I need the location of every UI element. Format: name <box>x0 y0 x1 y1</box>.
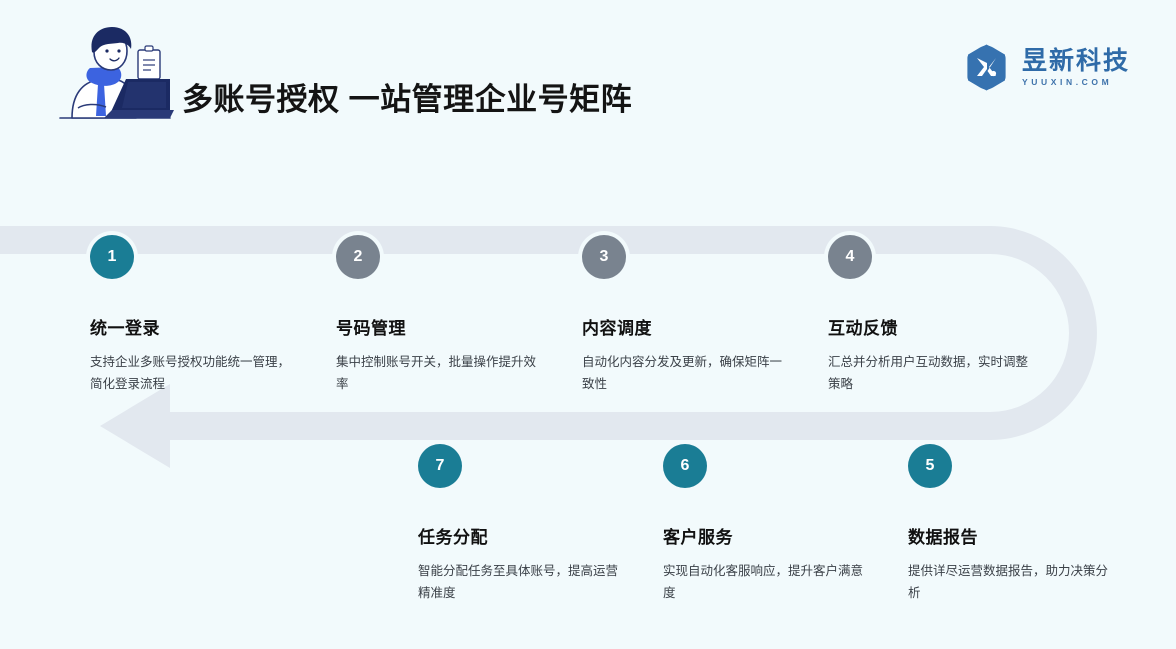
step-desc-3: 自动化内容分发及更新，确保矩阵一致性 <box>582 352 782 395</box>
person-working-on-laptop-illustration <box>52 18 178 130</box>
step-item-5[interactable]: 5 数据报告 提供详尽运营数据报告，助力决策分析 <box>908 444 1108 604</box>
step-title-5: 数据报告 <box>908 523 1108 548</box>
brand-logo: 昱新科技 YUUXIN.COM <box>962 43 1130 92</box>
step-title-4: 互动反馈 <box>828 314 1028 339</box>
page-title: 多账号授权 一站管理企业号矩阵 <box>182 74 632 119</box>
step-desc-5: 提供详尽运营数据报告，助力决策分析 <box>908 561 1108 604</box>
step-badge-2: 2 <box>336 235 380 279</box>
step-title-6: 客户服务 <box>663 523 863 548</box>
step-desc-1: 支持企业多账号授权功能统一管理，简化登录流程 <box>90 352 290 395</box>
brand-name: 昱新科技 <box>1022 48 1130 74</box>
step-item-3[interactable]: 3 内容调度 自动化内容分发及更新，确保矩阵一致性 <box>582 235 782 395</box>
step-badge-4: 4 <box>828 235 872 279</box>
step-badge-3: 3 <box>582 235 626 279</box>
step-badge-5: 5 <box>908 444 952 488</box>
step-desc-7: 智能分配任务至具体账号，提高运营精准度 <box>418 561 618 604</box>
brand-text: 昱新科技 YUUXIN.COM <box>1022 48 1130 86</box>
step-desc-6: 实现自动化客服响应，提升客户满意度 <box>663 561 863 604</box>
step-title-1: 统一登录 <box>90 314 290 339</box>
step-item-7[interactable]: 7 任务分配 智能分配任务至具体账号，提高运营精准度 <box>418 444 618 604</box>
step-badge-7: 7 <box>418 444 462 488</box>
step-title-3: 内容调度 <box>582 314 782 339</box>
brand-domain: YUUXIN.COM <box>1022 77 1130 87</box>
step-title-2: 号码管理 <box>336 314 536 339</box>
step-item-2[interactable]: 2 号码管理 集中控制账号开关，批量操作提升效率 <box>336 235 536 395</box>
page-header: 多账号授权 一站管理企业号矩阵 昱新科技 YUUXIN.COM <box>0 0 1176 160</box>
step-badge-6: 6 <box>663 444 707 488</box>
step-desc-4: 汇总并分析用户互动数据，实时调整策略 <box>828 352 1028 395</box>
step-item-6[interactable]: 6 客户服务 实现自动化客服响应，提升客户满意度 <box>663 444 863 604</box>
step-item-1[interactable]: 1 统一登录 支持企业多账号授权功能统一管理，简化登录流程 <box>90 235 290 395</box>
step-item-4[interactable]: 4 互动反馈 汇总并分析用户互动数据，实时调整策略 <box>828 235 1028 395</box>
step-badge-1: 1 <box>90 235 134 279</box>
step-desc-2: 集中控制账号开关，批量操作提升效率 <box>336 352 536 395</box>
step-title-7: 任务分配 <box>418 523 618 548</box>
hexagon-x-logo-icon <box>962 43 1011 92</box>
